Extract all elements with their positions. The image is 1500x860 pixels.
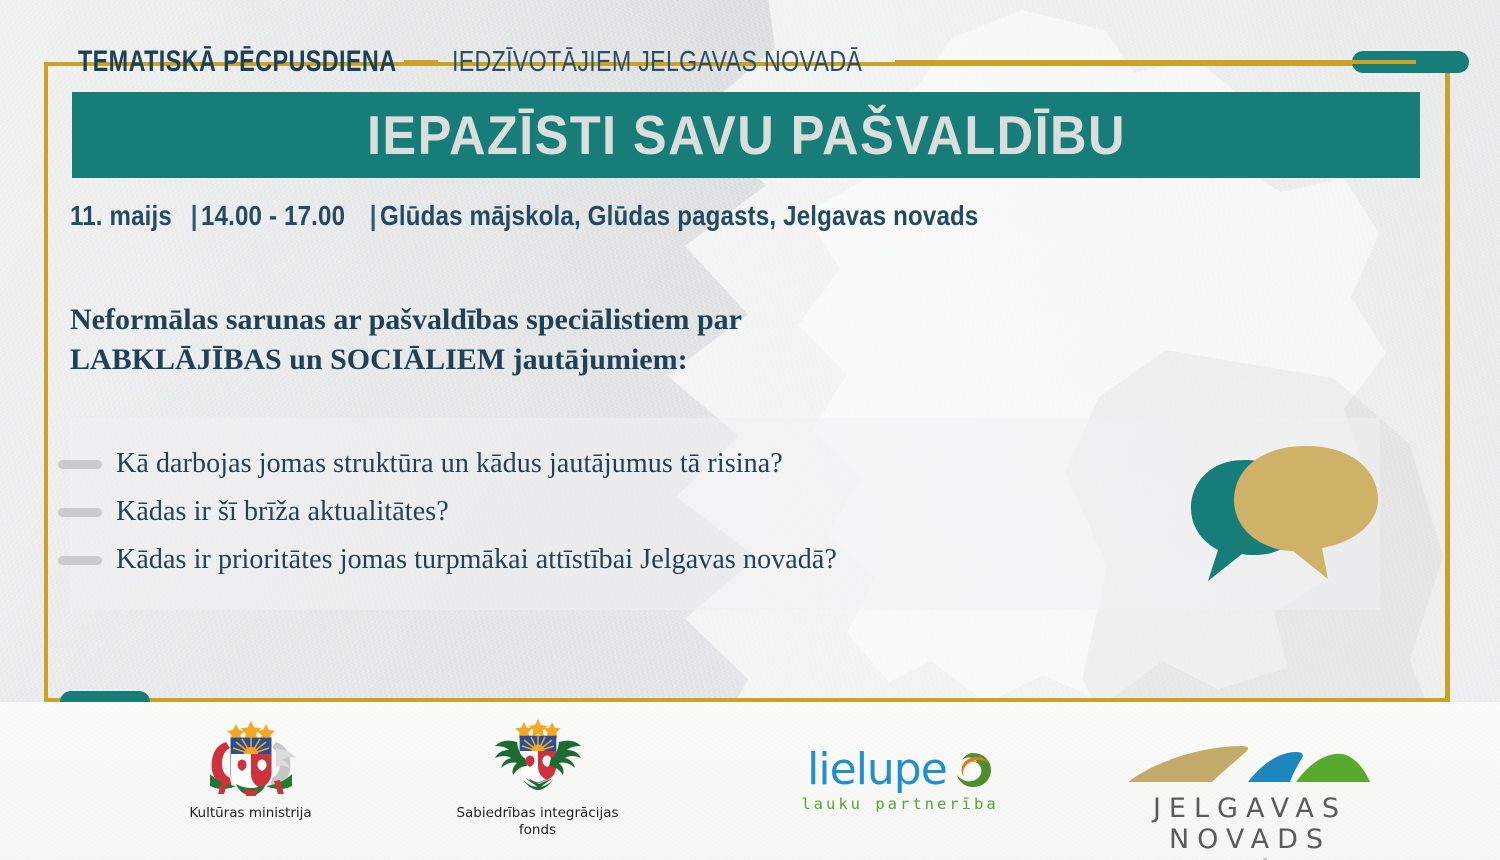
latvia-coat-of-arms-icon [176, 718, 326, 796]
logo-strip: Kultūras ministrija [0, 702, 1500, 860]
logo-jelgavas-novads: JELGAVAS NOVADS STABILAI NĀKOTNEI [1100, 742, 1400, 860]
page-title: IEPAZĪSTI SAVU PAŠVALDĪBU [367, 103, 1126, 167]
question-text: Kā darbojas jomas struktūra un kādus jau… [116, 448, 783, 480]
question-item: Kā darbojas jomas struktūra un kādus jau… [70, 440, 1190, 488]
lead-line-1: Neformālas sarunas ar pašvaldības speciā… [70, 300, 970, 340]
logo-lielupe: lielupe lauku partnerība [780, 748, 1020, 813]
meta-separator-1: | [189, 200, 199, 232]
header-row: TEMATISKĀ PĒCPUSDIENA IEDZĪVOTĀJIEM JELG… [78, 40, 1418, 84]
gold-dash-right [895, 60, 1416, 64]
logo-caption: Kultūras ministrija [118, 805, 383, 822]
bullet-dash-icon [58, 460, 102, 469]
event-kicker: TEMATISKĀ PĒCPUSDIENA [78, 45, 396, 79]
logo-kulturas-ministrija: Kultūras ministrija [118, 718, 383, 822]
questions-list: Kā darbojas jomas struktūra un kādus jau… [70, 440, 1190, 584]
meta-separator-2: | [368, 200, 378, 232]
gold-dash-left [404, 60, 438, 64]
question-item: Kādas ir prioritātes jomas turpmākai att… [70, 536, 1190, 584]
jelgavas-novads-hills-icon [1120, 742, 1380, 786]
event-meta: 11. maijs | 14.00 - 17.00 | Glūdas mājsk… [70, 196, 1170, 236]
logo-caption-line-1: Sabiedrības integrācijas [405, 805, 670, 822]
speech-bubbles-icon [1186, 438, 1386, 593]
event-audience: IEDZĪVOTĀJIEM JELGAVAS NOVADĀ [452, 46, 862, 79]
lielupe-swirl-icon [953, 750, 993, 790]
question-text: Kādas ir šī brīža aktualitātes? [116, 496, 449, 528]
logo-caption-line-2: fonds [405, 822, 670, 839]
event-date: 11. maijs [70, 200, 172, 232]
event-location: Glūdas mājskola, Glūdas pagasts, Jelgava… [380, 200, 978, 232]
question-text: Kādas ir prioritātes jomas turpmākai att… [116, 544, 837, 576]
event-time: 14.00 - 17.00 [201, 200, 345, 232]
jelgavas-novads-wordmark: JELGAVAS NOVADS [1100, 793, 1400, 855]
logo-sabiedribas-integracijas-fonds: Sabiedrības integrācijas fonds [405, 718, 670, 839]
bullet-dash-icon [58, 508, 102, 517]
lielupe-tagline: lauku partnerība [780, 795, 1020, 813]
bullet-dash-icon [58, 556, 102, 565]
title-band: IEPAZĪSTI SAVU PAŠVALDĪBU [72, 92, 1420, 178]
lead-paragraph: Neformālas sarunas ar pašvaldības speciā… [70, 300, 970, 379]
lielupe-wordmark: lielupe [807, 748, 947, 792]
sif-emblem-icon [463, 718, 613, 796]
lead-line-2: LABKLĀJĪBAS un SOCIĀLIEM jautājumiem: [70, 340, 970, 380]
logo-caption: Sabiedrības integrācijas fonds [405, 805, 670, 839]
poster: TEMATISKĀ PĒCPUSDIENA IEDZĪVOTĀJIEM JELG… [0, 0, 1500, 860]
question-item: Kādas ir šī brīža aktualitātes? [70, 488, 1190, 536]
